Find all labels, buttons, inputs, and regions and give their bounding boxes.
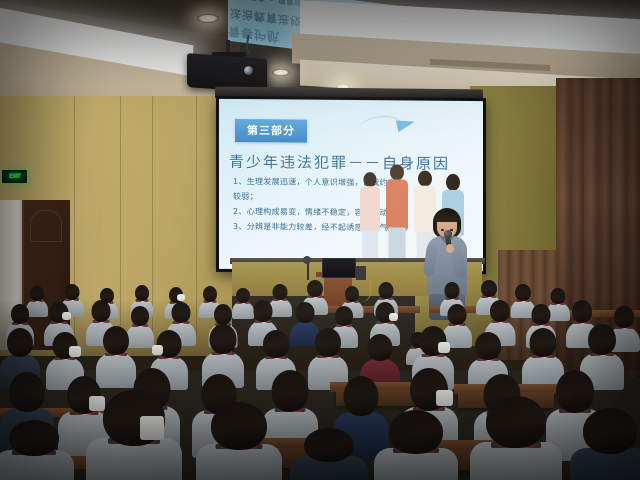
mic-icon (303, 256, 311, 264)
laptop[interactable] (322, 258, 356, 278)
presenter-eye-left (441, 229, 444, 231)
slide-section-badge: 第三部分 (235, 119, 307, 143)
paper-plane-icon (396, 117, 416, 132)
audience-student (570, 408, 640, 480)
microphone-head-icon (444, 230, 452, 238)
spotlight-icon-mid (272, 69, 290, 76)
exit-sign-label: EXIT (9, 173, 20, 180)
projector-lens-icon (244, 66, 253, 75)
audience-student (0, 420, 74, 480)
lecture-hall-photo: 心理健康 • 健康成长 法治教育进校园 青春护航 EXIT 第三部分 (0, 0, 640, 480)
door-panel-detail (30, 210, 62, 242)
presenter-fringe (435, 211, 459, 222)
exit-sign: EXIT (2, 170, 27, 183)
spotlight-icon-left (197, 14, 219, 23)
audience-student (470, 396, 562, 480)
audience-student (86, 390, 182, 480)
speaker-box (356, 266, 366, 280)
audience-student (196, 402, 282, 480)
audience-student (374, 410, 458, 480)
presenter-hand (446, 244, 454, 253)
audience-student (290, 428, 368, 480)
audience-seating (0, 280, 640, 480)
